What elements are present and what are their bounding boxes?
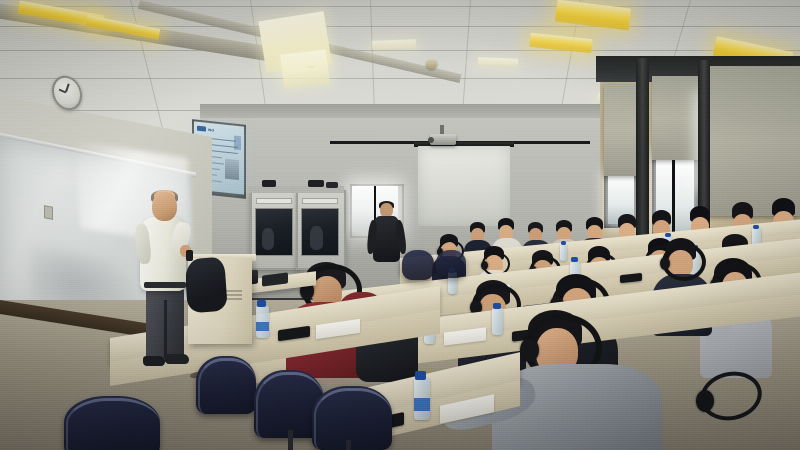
ceiling-light-panel	[280, 49, 330, 88]
headset-earcup	[696, 390, 714, 412]
water-bottle[interactable]	[492, 308, 503, 335]
roller-blind-2[interactable]	[652, 76, 698, 160]
slide-image	[225, 159, 239, 180]
chair-piping	[314, 388, 392, 450]
projection-screen-blank	[418, 146, 510, 226]
bottle-label	[414, 398, 430, 411]
bottle-cap	[257, 300, 266, 307]
chair-piping	[198, 358, 256, 415]
bottle-cap	[665, 233, 671, 237]
presenter-shoe	[165, 354, 189, 364]
interpreter-booth-top	[248, 186, 298, 193]
jacket-on-chair	[184, 257, 228, 314]
presentation-clicker[interactable]	[186, 250, 193, 261]
slide-title: ISO	[208, 128, 214, 133]
bottle-cap	[415, 371, 426, 380]
bottle-cap	[571, 257, 578, 262]
chair-leg	[346, 440, 351, 450]
headset-earcup	[481, 261, 488, 270]
ceiling-light-panel	[478, 57, 518, 66]
bottle-cap	[753, 225, 759, 229]
interpreter-silhouette	[262, 228, 274, 250]
booth-equipment	[308, 180, 324, 187]
roller-blind-3[interactable]	[708, 66, 800, 216]
water-bottle[interactable]	[560, 244, 567, 261]
presenter-shoe	[143, 356, 165, 366]
ceiling-light-panel	[372, 39, 416, 50]
chair-piping	[66, 398, 160, 450]
window-pillar	[698, 60, 710, 230]
roller-blind-1[interactable]	[604, 84, 638, 176]
chair-leg	[288, 430, 293, 450]
interpreter-booth-1-label	[256, 198, 292, 204]
presenter-leg-separation	[164, 300, 167, 358]
interpreter-silhouette	[310, 226, 323, 250]
smoke-detector-icon	[426, 60, 437, 69]
presenter-head	[152, 192, 177, 221]
chair[interactable]	[436, 250, 466, 278]
slide-logo	[197, 126, 206, 132]
headset-earcup	[660, 257, 670, 270]
headset-earcup	[520, 338, 539, 362]
window-mullion	[672, 158, 675, 238]
photograph-lecture-hall: ISO	[0, 0, 800, 450]
bottle-cap	[561, 241, 566, 245]
projector-lens-icon	[428, 137, 434, 143]
light-switch[interactable]	[44, 205, 53, 220]
bottle-label	[256, 322, 269, 331]
booth-equipment	[326, 182, 338, 188]
interpreter-booth-2-label	[302, 198, 338, 204]
presenter-belt	[144, 282, 186, 288]
interpreter-booth-1-window	[255, 208, 293, 256]
bottle-cap	[493, 303, 501, 309]
booth-equipment	[262, 180, 276, 187]
chair[interactable]	[402, 250, 434, 280]
